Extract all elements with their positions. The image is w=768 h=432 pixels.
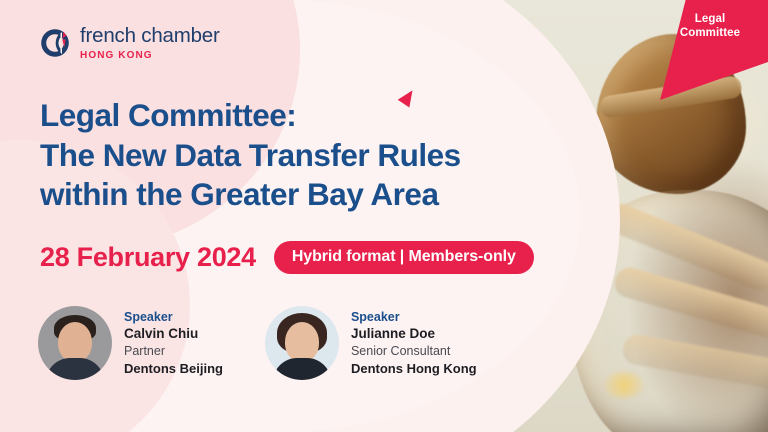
list-item: Speaker Calvin Chiu Partner Dentons Beij… <box>38 306 223 380</box>
speaker-name: Calvin Chiu <box>124 325 223 343</box>
brand-name: french chamber <box>80 26 220 47</box>
event-date: 28 February 2024 <box>40 242 256 273</box>
speaker-info: Speaker Calvin Chiu Partner Dentons Beij… <box>124 309 223 377</box>
speaker-name: Julianne Doe <box>351 325 477 343</box>
headline-line-3: within the Greater Bay Area <box>40 175 620 215</box>
avatar <box>265 306 339 380</box>
speaker-organisation: Dentons Hong Kong <box>351 360 477 377</box>
brand-logo[interactable]: french chamber HONG KONG <box>38 26 220 61</box>
speaker-info: Speaker Julianne Doe Senior Consultant D… <box>351 309 477 377</box>
speaker-title: Partner <box>124 343 223 360</box>
speakers-list: Speaker Calvin Chiu Partner Dentons Beij… <box>38 306 477 380</box>
speaker-role: Speaker <box>124 309 223 326</box>
speaker-title: Senior Consultant <box>351 343 477 360</box>
headline-line-2: The New Data Transfer Rules <box>40 136 620 176</box>
avatar-body-shape <box>46 358 104 380</box>
statue-highlight-shape <box>604 372 644 398</box>
corner-ribbon-line-1: Legal <box>695 13 726 25</box>
headline-line-1: Legal Committee: <box>40 96 620 136</box>
event-banner: Legal Committee french chamber HONG KONG… <box>0 0 768 432</box>
corner-ribbon-label: Legal Committee <box>664 12 756 40</box>
avatar-face-shape <box>285 322 319 362</box>
speaker-organisation: Dentons Beijing <box>124 360 223 377</box>
cci-monogram-icon <box>38 26 72 60</box>
speaker-role: Speaker <box>351 309 477 326</box>
avatar-body-shape <box>273 358 331 380</box>
corner-ribbon-line-2: Committee <box>680 27 740 39</box>
event-meta-row: 28 February 2024 Hybrid format | Members… <box>40 241 534 274</box>
page-title: Legal Committee: The New Data Transfer R… <box>40 96 620 215</box>
brand-location: HONG KONG <box>80 50 220 61</box>
avatar <box>38 306 112 380</box>
brand-logo-text: french chamber HONG KONG <box>80 26 220 61</box>
status-badge: Hybrid format | Members-only <box>274 241 534 274</box>
list-item: Speaker Julianne Doe Senior Consultant D… <box>265 306 477 380</box>
avatar-face-shape <box>58 322 92 362</box>
